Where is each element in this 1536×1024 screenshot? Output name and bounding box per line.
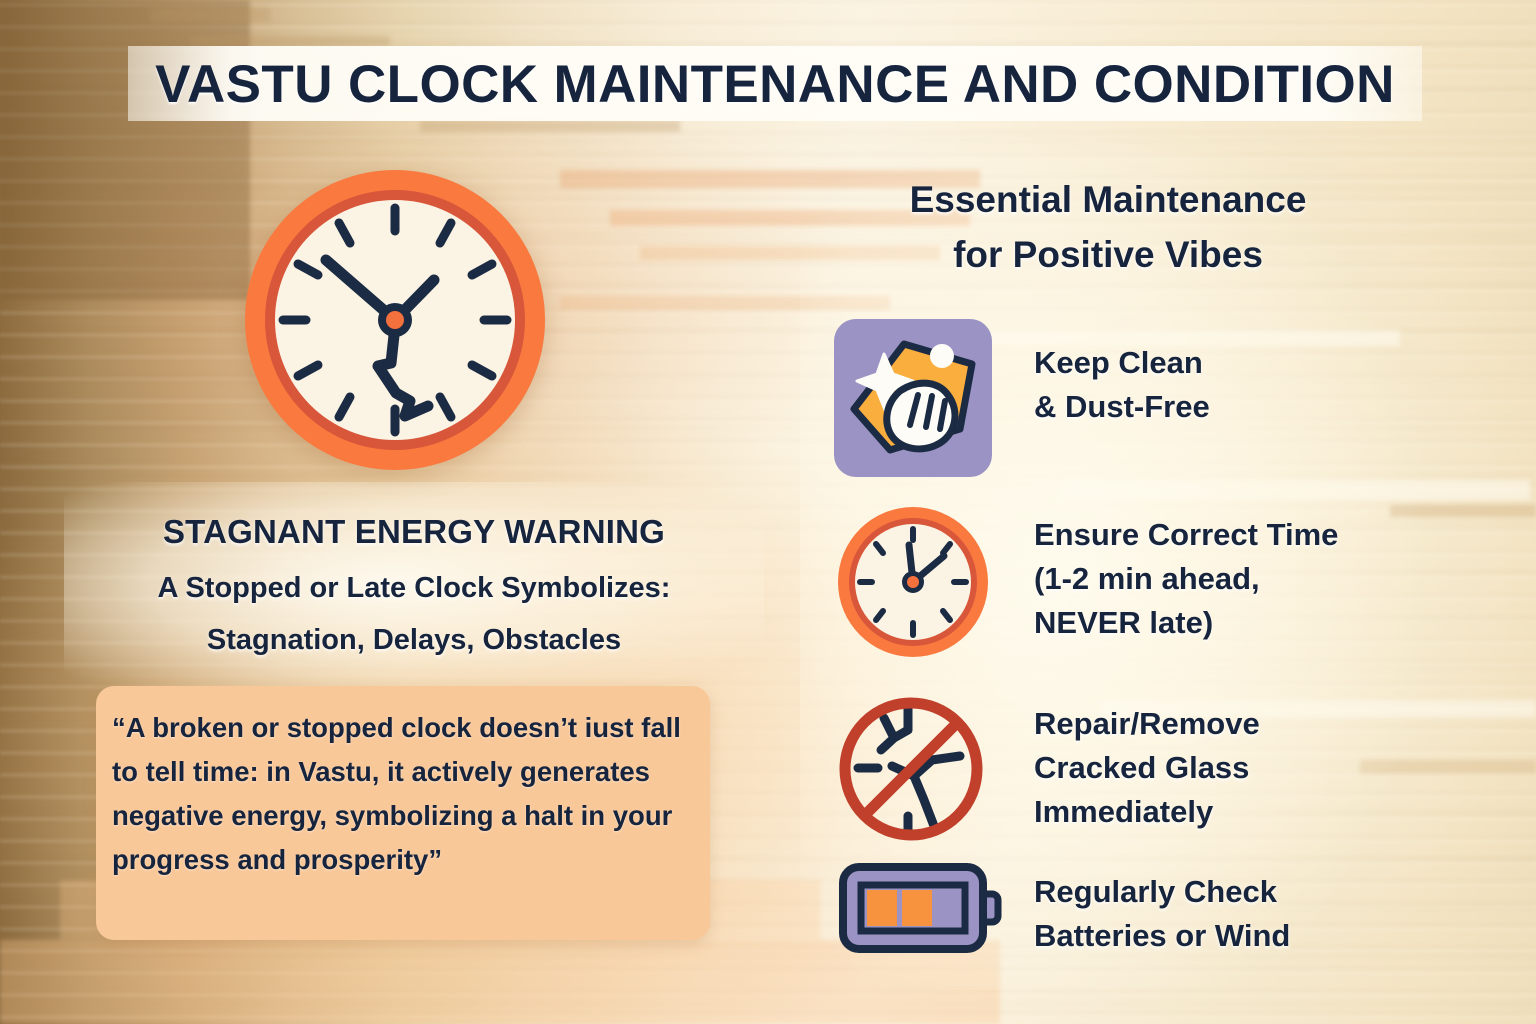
clock-icon xyxy=(834,503,992,661)
tip-label-batteries: Regularly Check Batteries or Wind xyxy=(1034,870,1454,958)
right-heading-line-2: for Positive Vibes xyxy=(953,234,1263,275)
warning-line-1: A Stopped or Late Clock Symbolizes: xyxy=(64,572,764,605)
right-column-heading: Essential Maintenance for Positive Vibes xyxy=(828,172,1388,282)
background-streak xyxy=(190,36,390,46)
infographic-canvas: VASTU CLOCK MAINTENANCE AND CONDITION xyxy=(0,0,1536,1024)
page-title: VASTU CLOCK MAINTENANCE AND CONDITION xyxy=(128,48,1422,120)
background-streak xyxy=(150,8,270,22)
warning-heading: STAGNANT ENERGY WARNING xyxy=(64,513,764,551)
warning-line-2: Stagnation, Delays, Obstacles xyxy=(64,624,764,657)
battery-icon xyxy=(838,862,1004,954)
right-heading-line-1: Essential Maintenance xyxy=(910,179,1307,220)
quote-text: “A broken or stopped clock doesn’t iust … xyxy=(112,706,698,882)
background-streak xyxy=(420,120,680,132)
tip-label-cracked-glass: Repair/Remove Cracked Glass Immediately xyxy=(1034,702,1454,834)
tip-label-keep-clean: Keep Clean & Dust-Free xyxy=(1034,341,1434,429)
tip-label-correct-time: Ensure Correct Time (1-2 min ahead, NEVE… xyxy=(1034,513,1454,645)
no-cracked-glass-icon xyxy=(836,694,986,844)
cleaning-cloth-icon xyxy=(832,317,994,479)
main-clock-illustration xyxy=(238,163,552,477)
